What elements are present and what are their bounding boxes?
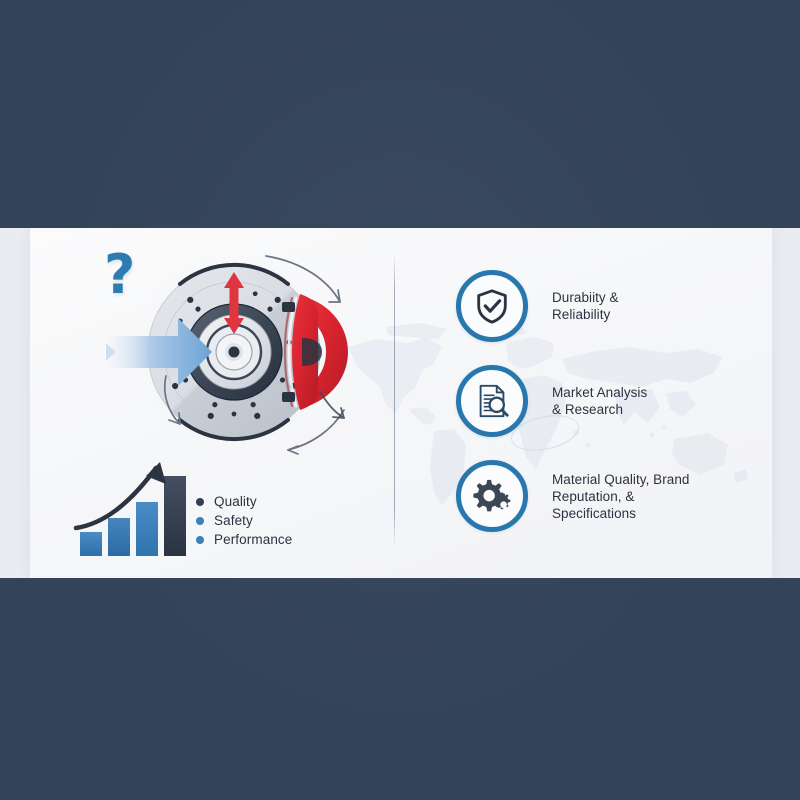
feature-label: Material Quality, Brand Reputation, & Sp… (552, 471, 689, 522)
legend-label: Safety (214, 513, 253, 528)
legend-item-safety: Safety (196, 511, 376, 530)
growth-bar-chart (72, 450, 192, 558)
legend-label: Performance (214, 532, 292, 547)
legend: Quality Safety Performance (196, 492, 376, 549)
shield-check-icon (456, 270, 528, 342)
feature-item-durability: Durabiity & Reliability (456, 270, 619, 342)
legend-label: Quality (214, 494, 257, 509)
feature-item-material-quality: Material Quality, Brand Reputation, & Sp… (456, 460, 689, 532)
slide-canvas: ? (0, 0, 800, 800)
left-panel: ? (30, 228, 394, 578)
legend-item-performance: Performance (196, 530, 376, 549)
right-panel: Durabiity & Reliability (394, 228, 772, 578)
document-magnifier-icon (456, 365, 528, 437)
slide-card: ? (0, 228, 800, 578)
feature-label: Market Analysis & Research (552, 384, 647, 418)
slide-content-area: ? (30, 228, 772, 578)
feature-label: Durabiity & Reliability (552, 289, 619, 323)
feature-item-market-analysis: Market Analysis & Research (456, 365, 647, 437)
gears-icon (456, 460, 528, 532)
legend-dot-icon (196, 517, 204, 525)
legend-item-quality: Quality (196, 492, 376, 511)
legend-dot-icon (196, 498, 204, 506)
brake-disc-illustration (106, 240, 376, 475)
legend-dot-icon (196, 536, 204, 544)
